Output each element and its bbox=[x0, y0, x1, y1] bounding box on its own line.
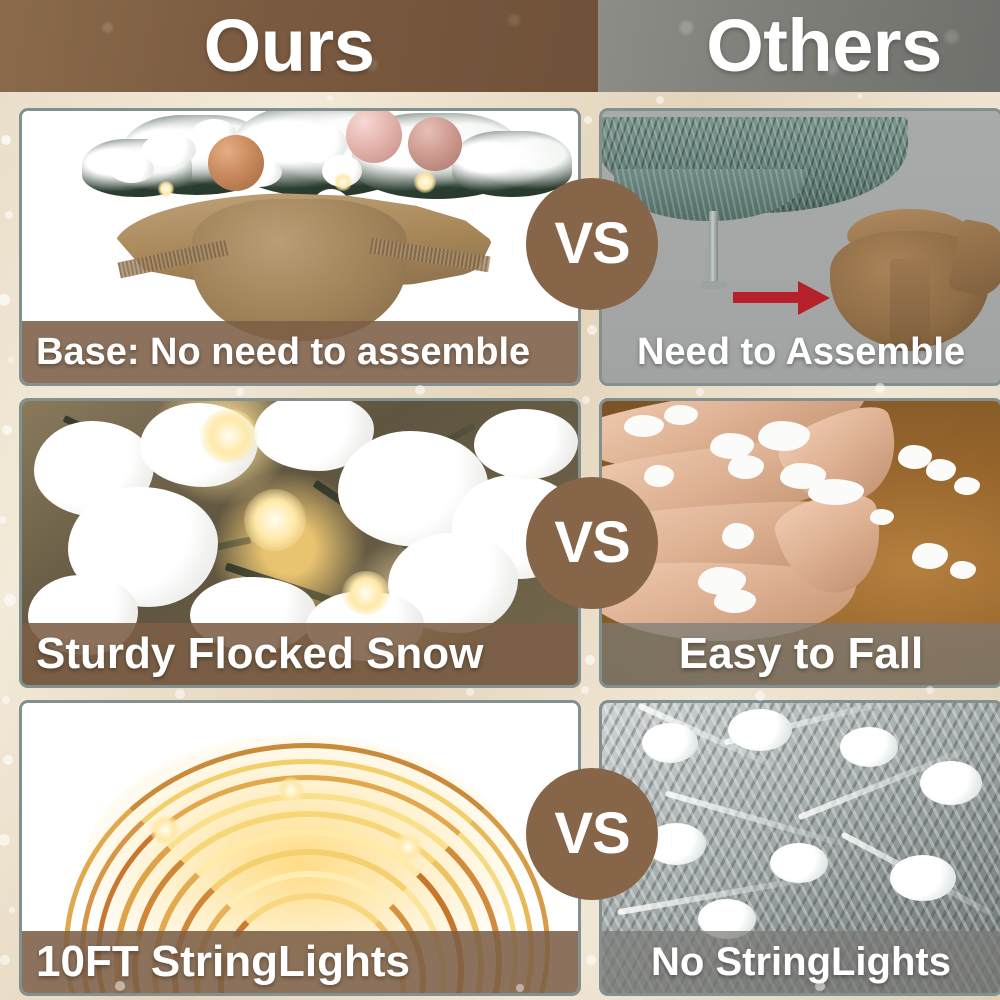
header-ours-title: Ours bbox=[204, 9, 375, 83]
others-caption-text-2: Easy to Fall bbox=[679, 632, 924, 676]
ours-card-base: Base: No need to assemble bbox=[19, 108, 581, 386]
comparison-row-3: 10FT StringLights No String bbox=[0, 700, 1000, 996]
red-right-arrow-head-icon bbox=[798, 281, 830, 315]
red-right-arrow-icon bbox=[733, 292, 805, 303]
ours-card-lights: 10FT StringLights bbox=[19, 700, 581, 996]
snow-speck bbox=[696, 388, 704, 396]
comparison-row-2: Sturdy Flocked Snow bbox=[0, 398, 1000, 688]
header-others-title: Others bbox=[706, 9, 942, 83]
others-card-assemble: Need to Assemble bbox=[599, 108, 1000, 386]
vs-badge-1: VS bbox=[526, 178, 658, 310]
header-bar: Ours Others bbox=[0, 0, 1000, 92]
vs-badge-label-3: VS bbox=[554, 805, 629, 863]
vs-badge-3: VS bbox=[526, 768, 658, 900]
vs-badge-2: VS bbox=[526, 477, 658, 609]
others-card-fall: Easy to Fall bbox=[599, 398, 1000, 688]
ours-caption-text-3: 10FT StringLights bbox=[36, 940, 410, 984]
snow-speck bbox=[175, 689, 185, 699]
others-caption-text-3: No StringLights bbox=[651, 942, 951, 982]
snow-speck bbox=[656, 96, 664, 104]
tree-pole bbox=[709, 211, 718, 287]
snow-speck bbox=[327, 95, 333, 101]
comparison-row-1: Base: No need to assemble Need to Assemb… bbox=[0, 108, 1000, 386]
others-caption-bar-3: No StringLights bbox=[602, 931, 1000, 993]
others-card-nolights: No StringLights bbox=[599, 700, 1000, 996]
ours-caption-text-1: Base: No need to assemble bbox=[36, 333, 530, 371]
snow-speck bbox=[466, 688, 474, 696]
others-caption-bar-1: Need to Assemble bbox=[602, 321, 1000, 383]
others-caption-bar-2: Easy to Fall bbox=[602, 623, 1000, 685]
snow-speck bbox=[415, 385, 425, 395]
burlap-sack bbox=[192, 199, 407, 341]
ours-caption-bar-2: Sturdy Flocked Snow bbox=[22, 623, 578, 685]
pole-foot bbox=[701, 281, 727, 289]
ours-caption-bar-1: Base: No need to assemble bbox=[22, 321, 578, 383]
snow-speck bbox=[857, 93, 863, 99]
others-caption-text-1: Need to Assemble bbox=[637, 333, 965, 371]
ours-caption-bar-3: 10FT StringLights bbox=[22, 931, 578, 993]
snow-speck bbox=[236, 388, 244, 396]
header-others-column: Others bbox=[598, 0, 1000, 92]
vs-badge-label-1: VS bbox=[554, 215, 629, 273]
vs-badge-label-2: VS bbox=[554, 514, 629, 572]
comparison-infographic: Ours Others bbox=[0, 0, 1000, 1000]
ours-caption-text-2: Sturdy Flocked Snow bbox=[36, 632, 483, 676]
header-ours-column: Ours bbox=[0, 0, 598, 92]
ours-card-flock: Sturdy Flocked Snow bbox=[19, 398, 581, 688]
